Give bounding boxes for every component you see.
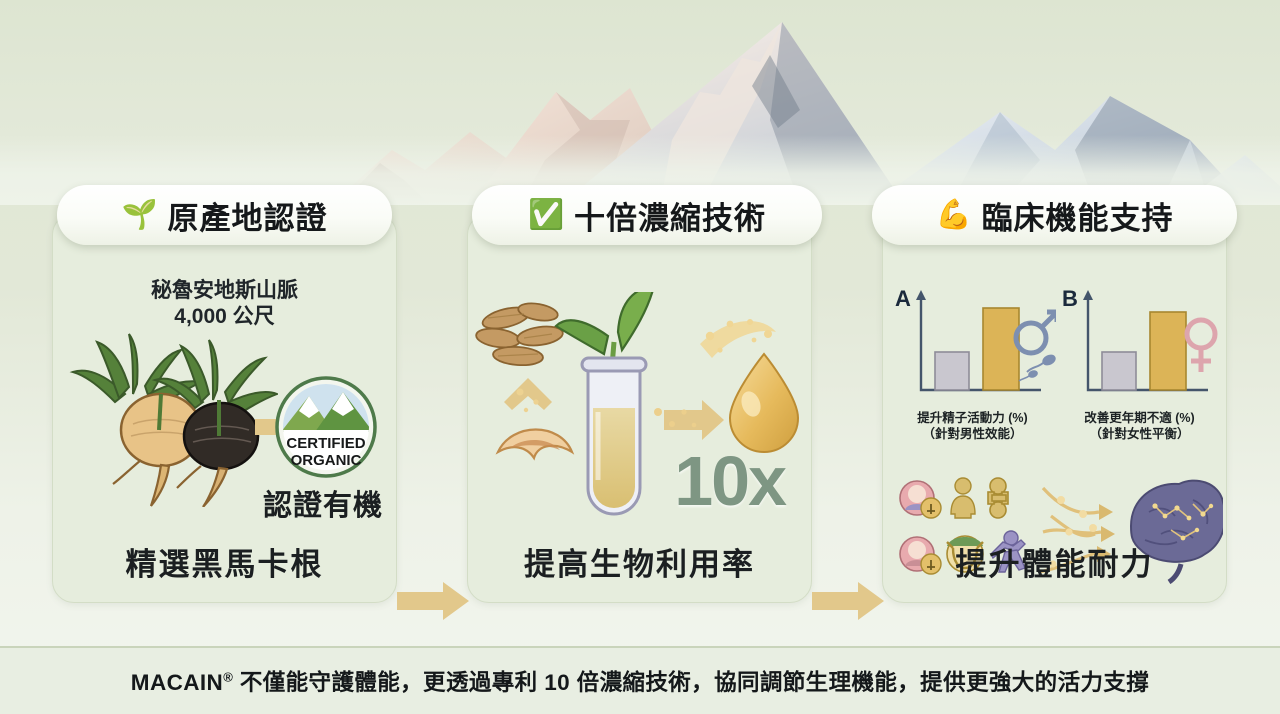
- panel-connector-arrow-1-icon: [397, 580, 469, 622]
- seal-line2-text: ORGANIC: [291, 452, 362, 469]
- standing-person-icon: [951, 478, 975, 518]
- check-mark-button-icon: ✅: [528, 201, 564, 230]
- chart-b-caption: 改善更年期不適 (%) （針對女性平衡）: [1052, 410, 1227, 443]
- maca-roots-icon: [63, 332, 278, 507]
- panel-row: 秘魯安地斯山脈 4,000 公尺: [0, 185, 1280, 625]
- chart-b-title: 改善更年期不適 (%): [1052, 410, 1227, 426]
- chart-a-caption: 提升精子活動力 (%) （針對男性效能）: [885, 410, 1060, 443]
- multiplier-label: 10x: [674, 446, 785, 516]
- panel-origin: 秘魯安地斯山脈 4,000 公尺: [52, 213, 397, 603]
- person-female-icon: [900, 481, 941, 518]
- origin-subtitle: 秘魯安地斯山脈 4,000 公尺: [53, 278, 396, 329]
- seal-line1-text: CERTIFIED: [286, 435, 365, 452]
- panel-clinical-caption: 提升體能耐力: [883, 539, 1226, 584]
- chart-a-plot: [891, 286, 1056, 404]
- panel-origin-header: 🌱 原產地認證: [57, 185, 392, 245]
- panel-clinical: A: [882, 213, 1227, 603]
- bottom-banner: MACAIN® 不僅能守護體能，更透過專利 10 倍濃縮技術，協同調節生理機能，…: [0, 646, 1280, 714]
- registered-mark: ®: [223, 670, 233, 685]
- mountain-backdrop: [0, 0, 1280, 205]
- dumbbell-icon: [988, 478, 1008, 518]
- certified-organic-seal-icon: CERTIFIED ORGANIC: [275, 376, 377, 478]
- seal-label: 認證有機: [228, 482, 418, 524]
- banner-text: MACAIN® 不僅能守護體能，更透過專利 10 倍濃縮技術，協同調節生理機能，…: [131, 665, 1149, 697]
- panel-origin-caption: 精選黑馬卡根: [53, 539, 396, 584]
- chart-a: A: [891, 286, 1056, 409]
- flexed-biceps-icon: 💪: [935, 201, 971, 230]
- chart-a-letter: A: [895, 286, 911, 312]
- panel-concentration-caption: 提高生物利用率: [468, 539, 811, 584]
- brand-name: MACAIN: [131, 670, 223, 695]
- chart-b-letter: B: [1062, 286, 1078, 312]
- chart-a-subtitle: （針對男性效能）: [885, 426, 1060, 442]
- chart-b-plot: [1058, 286, 1223, 404]
- seedling-icon: 🌱: [121, 201, 157, 230]
- banner-body: 不僅能守護體能，更透過專利 10 倍濃縮技術，協同調節生理機能，提供更強大的活力…: [233, 670, 1149, 695]
- chart-b: B 改善更年期不適 (%) （針對女性平衡）: [1058, 286, 1223, 409]
- panel-clinical-header: 💪 臨床機能支持: [872, 185, 1237, 245]
- infographic-root: 秘魯安地斯山脈 4,000 公尺: [0, 0, 1280, 714]
- panel-concentration-title: 十倍濃縮技術: [574, 193, 766, 238]
- chart-a-title: 提升精子活動力 (%): [885, 410, 1060, 426]
- panel-origin-title: 原產地認證: [168, 193, 328, 238]
- panel-clinical-title: 臨床機能支持: [982, 193, 1174, 238]
- panel-connector-arrow-2-icon: [812, 580, 884, 622]
- panel-concentration: 10x 提高生物利用率: [467, 213, 812, 603]
- origin-subtitle-line2: 4,000 公尺: [53, 304, 396, 330]
- chart-b-subtitle: （針對女性平衡）: [1052, 426, 1227, 442]
- origin-subtitle-line1: 秘魯安地斯山脈: [53, 278, 396, 304]
- panel-concentration-header: ✅ 十倍濃縮技術: [472, 185, 822, 245]
